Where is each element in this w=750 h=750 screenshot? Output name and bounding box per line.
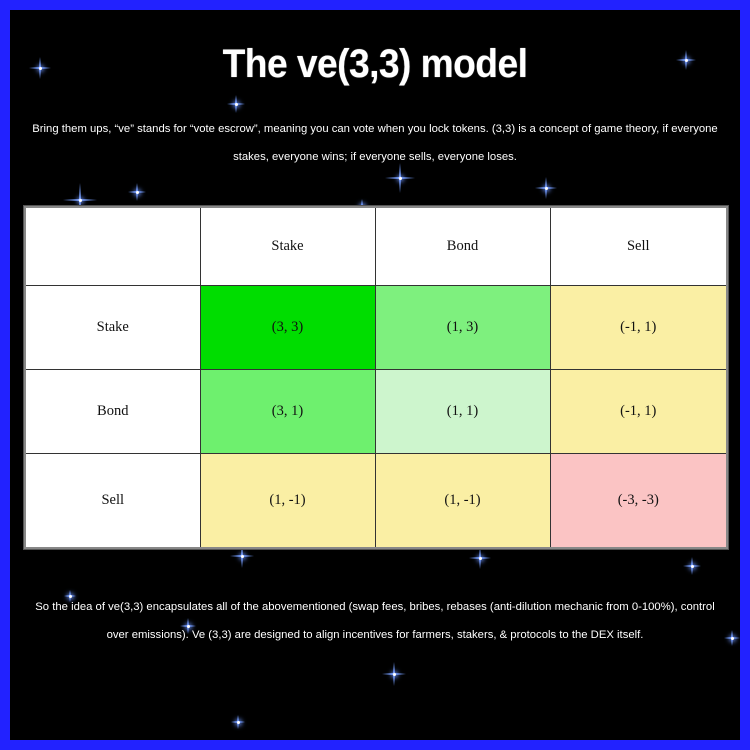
row-header-stake: Stake	[25, 286, 200, 370]
cell-bond-bond: (1, 1)	[375, 370, 550, 454]
cell-sell-sell: (-3, -3)	[550, 454, 727, 548]
row-header-sell: Sell	[25, 454, 200, 548]
outro-paragraph: So the idea of ve(3,3) encapsulates all …	[30, 593, 720, 649]
star-sparkle-icon	[128, 183, 146, 201]
cell-stake-sell: (-1, 1)	[550, 286, 727, 370]
payoff-matrix-table: Stake Bond Sell Stake (3, 3) (1, 3) (-1,…	[24, 206, 728, 549]
column-header-sell: Sell	[550, 207, 727, 286]
star-sparkle-icon	[683, 557, 701, 575]
star-sparkle-icon	[724, 630, 740, 646]
page-title: The ve(3,3) model	[36, 42, 715, 87]
star-sparkle-icon	[227, 95, 245, 113]
slide-frame: The ve(3,3) model Bring them ups, “ve” s…	[0, 0, 750, 750]
column-header-bond: Bond	[375, 207, 550, 286]
table-corner-cell	[25, 207, 200, 286]
table-row: Stake (3, 3) (1, 3) (-1, 1)	[25, 286, 727, 370]
table-header-row: Stake Bond Sell	[25, 207, 727, 286]
star-sparkle-icon	[535, 177, 557, 199]
cell-bond-sell: (-1, 1)	[550, 370, 727, 454]
table-row: Sell (1, -1) (1, -1) (-3, -3)	[25, 454, 727, 548]
cell-bond-stake: (3, 1)	[200, 370, 375, 454]
cell-stake-stake: (3, 3)	[200, 286, 375, 370]
table-row: Bond (3, 1) (1, 1) (-1, 1)	[25, 370, 727, 454]
intro-paragraph: Bring them ups, “ve” stands for “vote es…	[30, 115, 720, 171]
star-sparkle-icon	[382, 662, 406, 686]
column-header-stake: Stake	[200, 207, 375, 286]
cell-stake-bond: (1, 3)	[375, 286, 550, 370]
slide-canvas: The ve(3,3) model Bring them ups, “ve” s…	[10, 10, 740, 740]
cell-sell-stake: (1, -1)	[200, 454, 375, 548]
table-header: Stake Bond Sell	[25, 207, 727, 286]
cell-sell-bond: (1, -1)	[375, 454, 550, 548]
star-sparkle-icon	[469, 547, 491, 569]
table-body: Stake (3, 3) (1, 3) (-1, 1) Bond (3, 1) …	[25, 286, 727, 548]
star-sparkle-icon	[231, 715, 245, 729]
row-header-bond: Bond	[25, 370, 200, 454]
